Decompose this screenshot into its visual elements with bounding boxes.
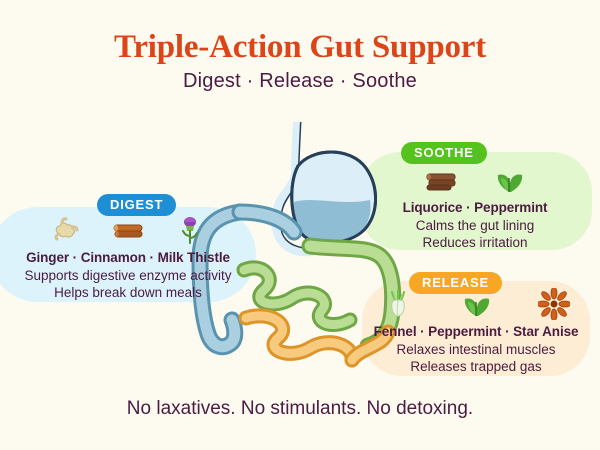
digest-herbs: Ginger · Cinnamon · Milk Thistle — [8, 250, 248, 267]
digest-benefit-1: Supports digestive enzyme activity — [8, 267, 248, 284]
badge-soothe[interactable]: SOOTHE — [401, 142, 487, 164]
section-release: Fennel · Peppermint · Star Anise Relaxes… — [360, 286, 592, 375]
soothe-benefit-2: Reduces irritation — [370, 234, 580, 251]
ginger-root-icon — [50, 214, 82, 246]
footer-claim: No laxatives. No stimulants. No detoxing… — [0, 398, 600, 420]
digest-icon-row — [8, 212, 248, 246]
liquorice-root-sticks-icon — [425, 164, 457, 196]
release-benefit-1: Relaxes intestinal muscles — [360, 341, 592, 358]
soothe-herbs: Liquorice · Peppermint — [370, 200, 580, 217]
milk-thistle-flower-icon — [174, 214, 206, 246]
release-icon-row — [360, 286, 592, 320]
page-subtitle: Digest · Release · Soothe — [0, 70, 600, 93]
section-soothe: Liquorice · Peppermint Calms the gut lin… — [370, 162, 580, 251]
release-herbs: Fennel · Peppermint · Star Anise — [360, 324, 592, 341]
infographic-canvas: Triple-Action Gut Support Digest · Relea… — [0, 0, 600, 450]
fennel-bulb-icon — [382, 288, 414, 320]
peppermint-leaf-icon — [493, 164, 525, 196]
soothe-icon-row — [370, 162, 580, 196]
page-title: Triple-Action Gut Support — [0, 30, 600, 65]
section-digest: Ginger · Cinnamon · Milk Thistle Support… — [8, 212, 248, 301]
digest-benefit-2: Helps break down meals — [8, 284, 248, 301]
cinnamon-sticks-icon — [112, 214, 144, 246]
release-benefit-2: Releases trapped gas — [360, 358, 592, 375]
peppermint-leaf-icon — [460, 288, 492, 320]
star-anise-icon — [538, 288, 570, 320]
soothe-benefit-1: Calms the gut lining — [370, 217, 580, 234]
header: Triple-Action Gut Support Digest · Relea… — [0, 30, 600, 93]
